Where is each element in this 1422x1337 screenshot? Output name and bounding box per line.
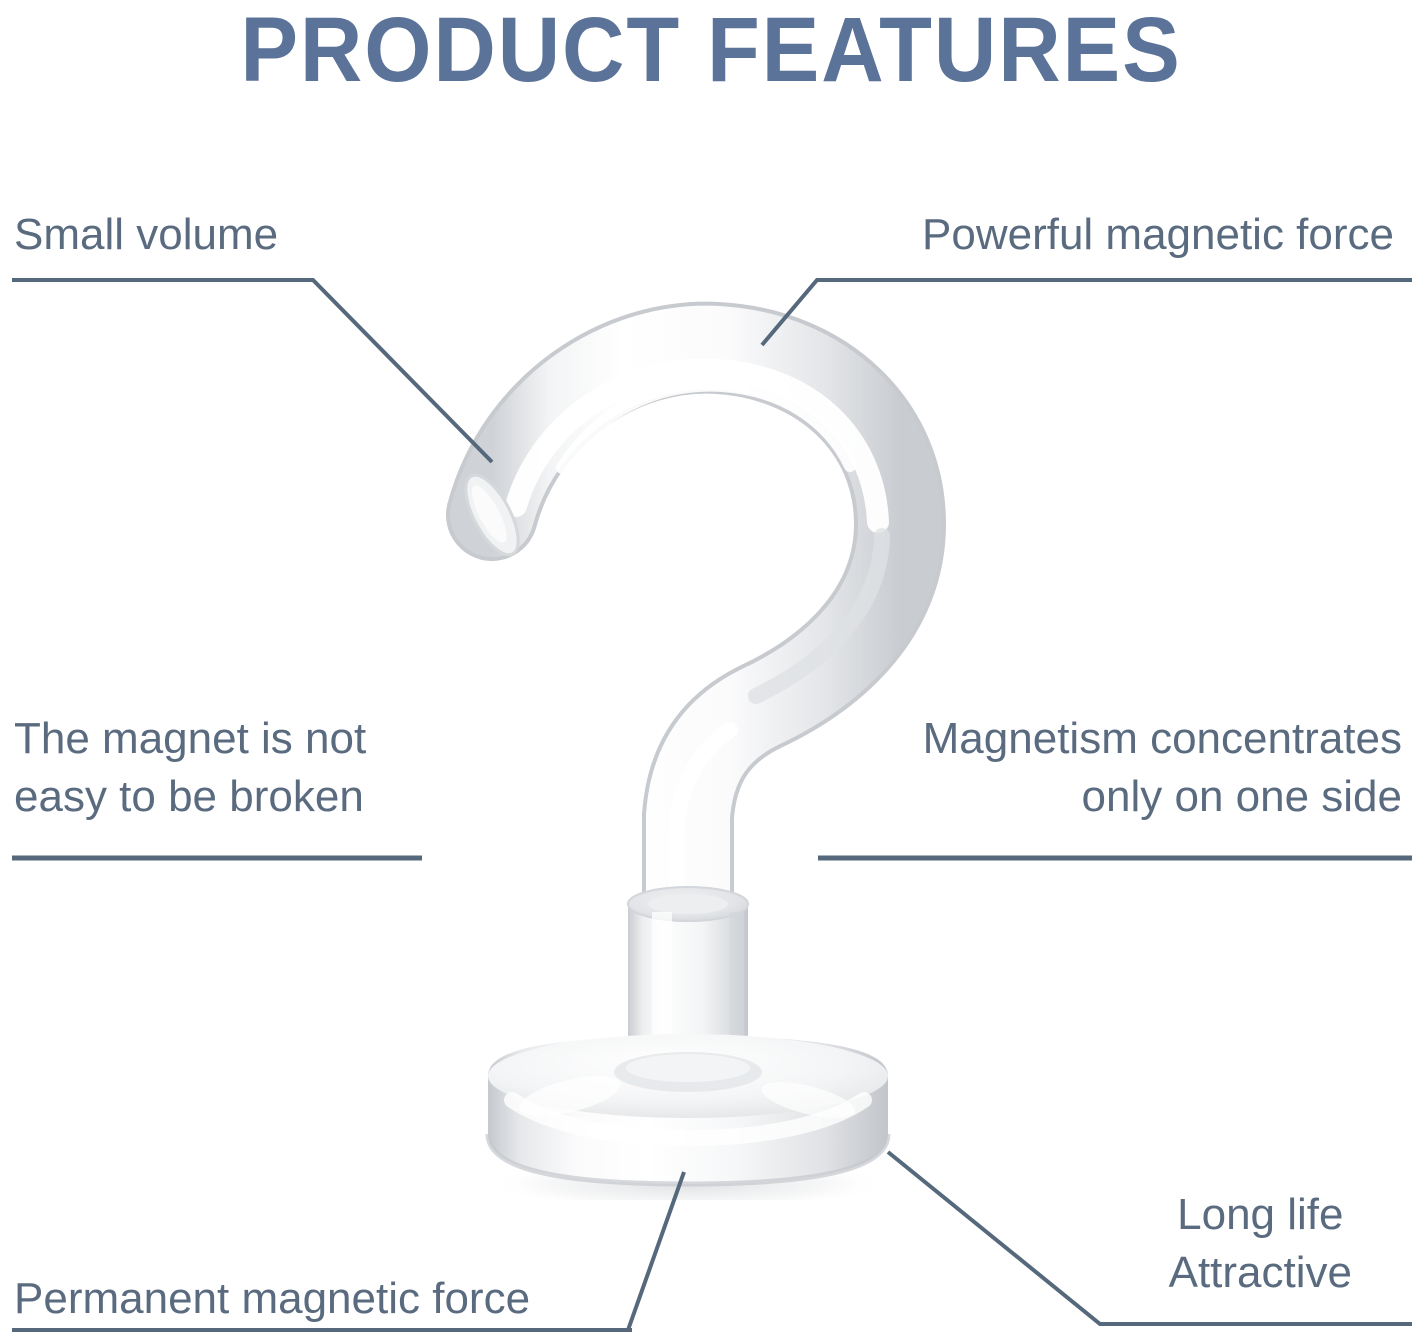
callout-long-life-attractive: Long life Attractive bbox=[1169, 1186, 1352, 1302]
callout-small-volume: Small volume bbox=[14, 206, 278, 264]
callout-permanent-magnetic-force: Permanent magnetic force bbox=[14, 1270, 530, 1328]
callout-magnet-not-easy-broken: The magnet is not easy to be broken bbox=[14, 710, 366, 826]
page-title: PRODUCT FEATURES bbox=[43, 0, 1380, 100]
product-image-magnetic-hook bbox=[430, 300, 990, 1200]
magnetic-hook-illustration bbox=[430, 300, 990, 1200]
product-features-infographic: PRODUCT FEATURES bbox=[0, 0, 1422, 1337]
callout-powerful-magnetic-force: Powerful magnetic force bbox=[922, 206, 1394, 264]
magnet-base bbox=[488, 1034, 888, 1200]
callout-magnetism-concentrates: Magnetism concentrates only on one side bbox=[923, 710, 1402, 826]
leader-line-small-volume bbox=[12, 280, 492, 462]
magnet-neck-junction-inner bbox=[626, 1054, 750, 1082]
